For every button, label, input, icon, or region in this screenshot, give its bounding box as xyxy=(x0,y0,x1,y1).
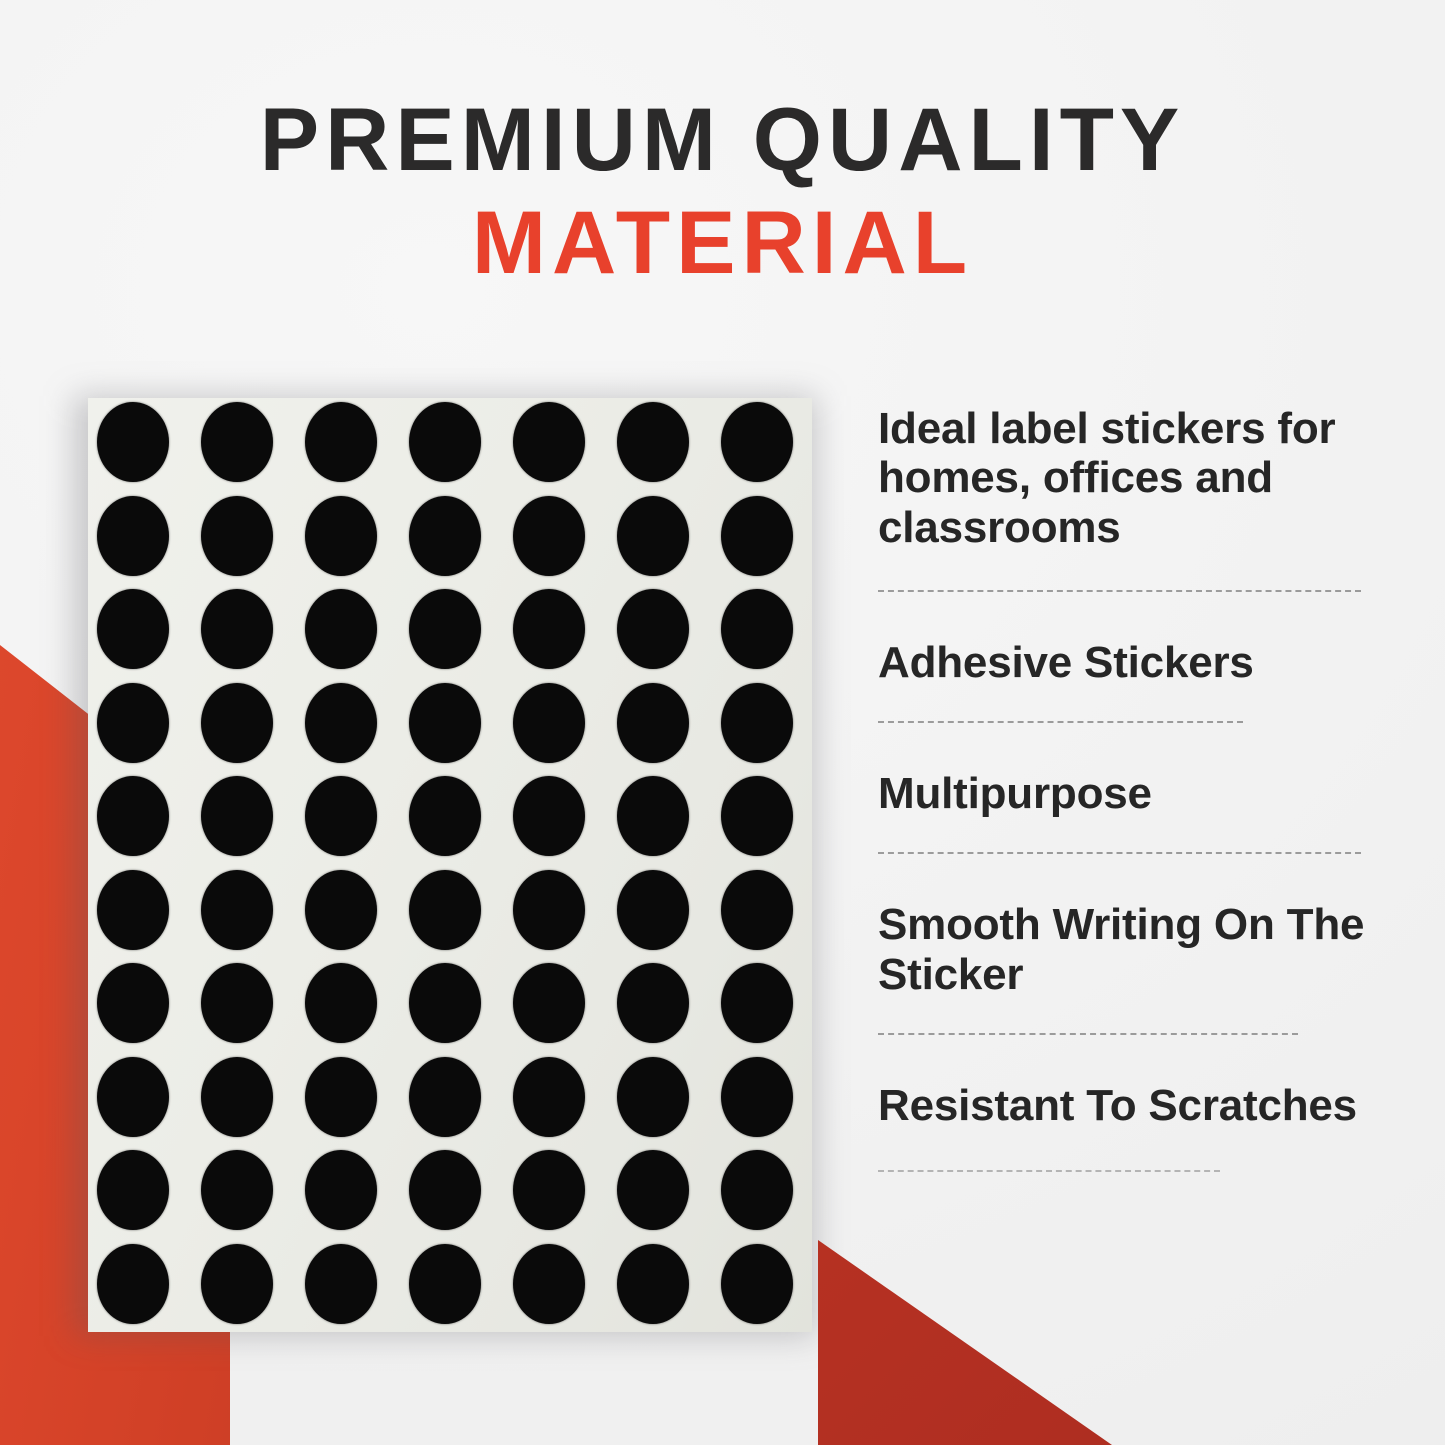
sticker-dot xyxy=(97,496,169,576)
sticker-dot xyxy=(513,870,585,950)
heading-line-primary: PREMIUM QUALITY xyxy=(0,95,1445,184)
sticker-dot xyxy=(513,1057,585,1137)
sticker-dot xyxy=(97,1150,169,1230)
sticker-dot xyxy=(305,1057,377,1137)
feature-item: Adhesive Stickers xyxy=(878,638,1378,723)
sticker-dot xyxy=(409,776,481,856)
red-bottom-right-accent-shape xyxy=(740,1180,1445,1445)
sticker-dot xyxy=(201,589,273,669)
sticker-dot xyxy=(97,683,169,763)
heading-line-accent: MATERIAL xyxy=(0,198,1445,287)
sticker-dot xyxy=(513,1150,585,1230)
sticker-dot xyxy=(721,683,793,763)
sticker-dot xyxy=(617,496,689,576)
sticker-dot xyxy=(721,402,793,482)
sticker-dot xyxy=(513,402,585,482)
feature-item: Multipurpose xyxy=(878,769,1378,854)
sticker-dot xyxy=(97,870,169,950)
feature-label: Resistant To Scratches xyxy=(878,1081,1378,1130)
sticker-dot xyxy=(409,683,481,763)
sticker-dot xyxy=(97,402,169,482)
sticker-dot xyxy=(617,683,689,763)
sticker-dot xyxy=(305,1244,377,1324)
sticker-dot xyxy=(305,776,377,856)
sticker-dot xyxy=(201,1150,273,1230)
sticker-dot xyxy=(97,589,169,669)
page-title: PREMIUM QUALITY MATERIAL xyxy=(0,95,1445,287)
sticker-dot xyxy=(201,683,273,763)
feature-list: Ideal label stickers for homes, offices … xyxy=(878,404,1378,1172)
sticker-dot xyxy=(97,1244,169,1324)
sticker-dot xyxy=(201,776,273,856)
sticker-dot xyxy=(97,776,169,856)
sticker-dot xyxy=(513,589,585,669)
sticker-dot xyxy=(617,1244,689,1324)
sticker-dot xyxy=(513,963,585,1043)
feature-item: Resistant To Scratches xyxy=(878,1081,1378,1172)
sticker-dot xyxy=(305,963,377,1043)
sticker-dot xyxy=(409,1150,481,1230)
sticker-dot-grid xyxy=(88,398,812,1332)
feature-label: Smooth Writing On The Sticker xyxy=(878,900,1378,999)
sticker-dot xyxy=(721,1150,793,1230)
sticker-dot xyxy=(305,589,377,669)
sticker-dot xyxy=(513,683,585,763)
sticker-dot xyxy=(409,1057,481,1137)
feature-separator xyxy=(878,852,1361,854)
sticker-dot xyxy=(409,496,481,576)
sticker-dot xyxy=(305,402,377,482)
sticker-dot xyxy=(201,496,273,576)
sticker-dot xyxy=(201,963,273,1043)
sticker-dot xyxy=(409,402,481,482)
sticker-dot xyxy=(617,589,689,669)
sticker-dot xyxy=(305,870,377,950)
sticker-dot xyxy=(721,1244,793,1324)
sticker-dot xyxy=(617,963,689,1043)
sticker-dot xyxy=(721,963,793,1043)
sticker-dot xyxy=(97,963,169,1043)
feature-item: Ideal label stickers for homes, offices … xyxy=(878,404,1378,592)
sticker-dot xyxy=(201,402,273,482)
sticker-dot xyxy=(513,1244,585,1324)
sticker-dot xyxy=(513,496,585,576)
sticker-dot xyxy=(201,870,273,950)
sticker-dot xyxy=(201,1057,273,1137)
sticker-dot xyxy=(305,683,377,763)
sticker-dot xyxy=(721,589,793,669)
sticker-dot xyxy=(409,870,481,950)
feature-separator xyxy=(878,1033,1298,1035)
sticker-dot xyxy=(409,589,481,669)
sticker-dot xyxy=(201,1244,273,1324)
sticker-dot xyxy=(721,1057,793,1137)
sticker-dot xyxy=(617,402,689,482)
feature-label: Ideal label stickers for homes, offices … xyxy=(878,404,1378,552)
feature-item: Smooth Writing On The Sticker xyxy=(878,900,1378,1035)
sticker-dot xyxy=(305,496,377,576)
feature-separator xyxy=(878,1170,1220,1172)
sticker-dot xyxy=(97,1057,169,1137)
feature-separator xyxy=(878,590,1361,592)
infographic-canvas: PREMIUM QUALITY MATERIAL Ideal label sti… xyxy=(0,0,1445,1445)
sticker-dot xyxy=(409,1244,481,1324)
sticker-dot xyxy=(305,1150,377,1230)
feature-label: Adhesive Stickers xyxy=(878,638,1378,687)
sticker-dot xyxy=(721,870,793,950)
sticker-dot xyxy=(721,776,793,856)
sticker-dot xyxy=(721,496,793,576)
sticker-dot xyxy=(617,1057,689,1137)
sticker-dot xyxy=(617,870,689,950)
sticker-dot xyxy=(513,776,585,856)
feature-label: Multipurpose xyxy=(878,769,1378,818)
sticker-dot xyxy=(409,963,481,1043)
sticker-dot xyxy=(617,776,689,856)
sticker-sheet-photo xyxy=(88,398,812,1332)
feature-separator xyxy=(878,721,1243,723)
sticker-dot xyxy=(617,1150,689,1230)
